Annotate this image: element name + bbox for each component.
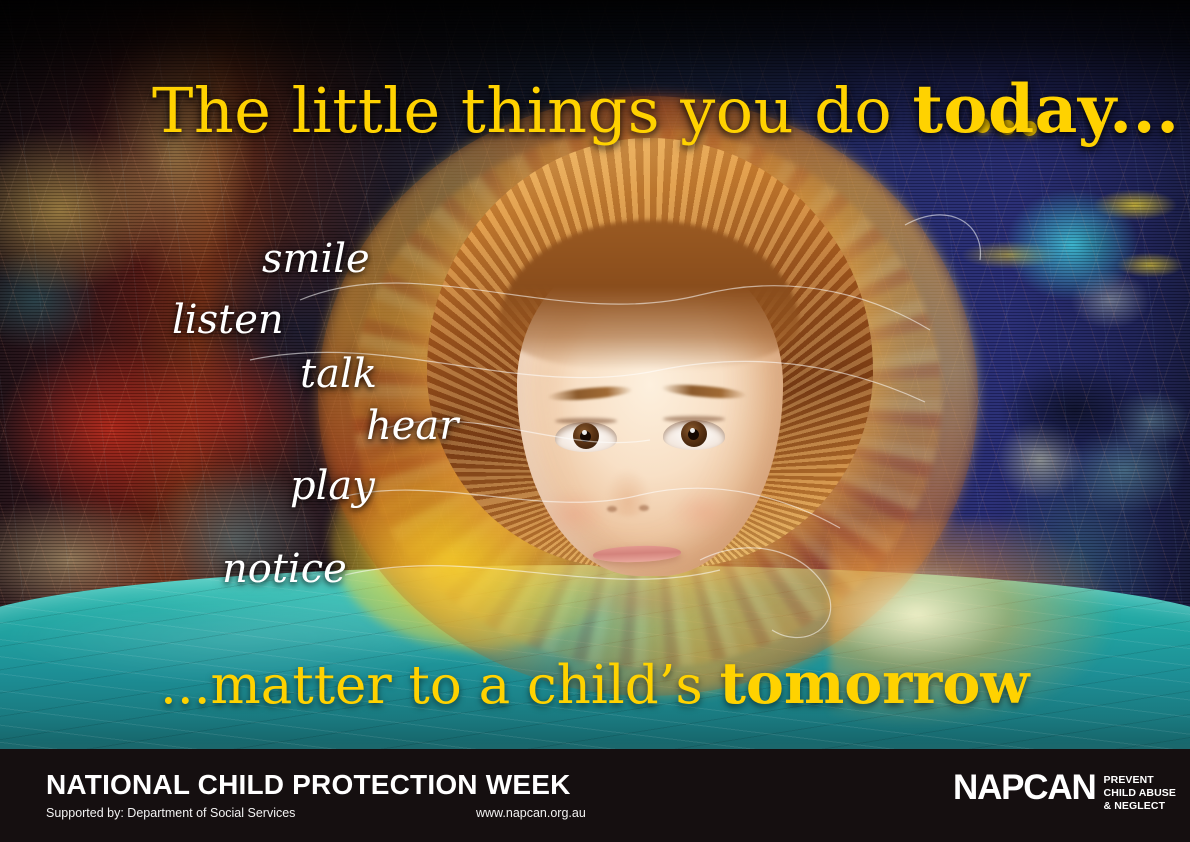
napcan-tagline-line-3: & NEGLECT [1104,800,1176,813]
list-item: talk [300,351,377,397]
page-title: The little things you do today... [152,76,1052,142]
child-eye-highlight-right [690,428,695,433]
campaign-title: NATIONAL CHILD PROTECTION WEEK [46,769,571,801]
child-nostril-right [639,505,649,511]
napcan-tagline-line-1: PREVENT [1104,774,1176,787]
child-cheek-right [669,488,739,536]
website-link[interactable]: www.napcan.org.au [476,806,586,820]
napcan-tagline-line-2: CHILD ABUSE [1104,787,1176,800]
tagline-lead: ...matter to a child’s [160,655,720,716]
child-eye-highlight-left [582,430,587,435]
list-item: smile [262,236,370,282]
list-item: notice [222,546,347,592]
footer-bar: NATIONAL CHILD PROTECTION WEEK Supported… [0,749,1190,842]
child-chin-shadow [575,580,705,624]
napcan-logo-tagline: PREVENT CHILD ABUSE & NEGLECT [1104,771,1176,812]
supported-by-text: Supported by: Department of Social Servi… [46,806,295,820]
child-nostril-left [607,506,617,512]
child-portrait [455,150,845,620]
headline-lead: The little things you do [152,74,912,147]
poster-canvas: The little things you do today... smile … [0,0,1190,842]
child-eyelid-right [663,416,725,422]
child-eyelid-left [555,418,617,424]
page-tagline: ...matter to a child’s tomorrow [160,655,1100,712]
list-item: hear [366,403,458,449]
headline-accent: today... [912,70,1179,148]
child-cheek-left [539,490,609,538]
napcan-logo[interactable]: NAPCAN PREVENT CHILD ABUSE & NEGLECT [953,771,1176,812]
tagline-accent: tomorrow [720,650,1030,717]
list-item: play [290,463,375,509]
napcan-wordmark: NAPCAN [953,771,1096,805]
list-item: listen [172,297,284,343]
